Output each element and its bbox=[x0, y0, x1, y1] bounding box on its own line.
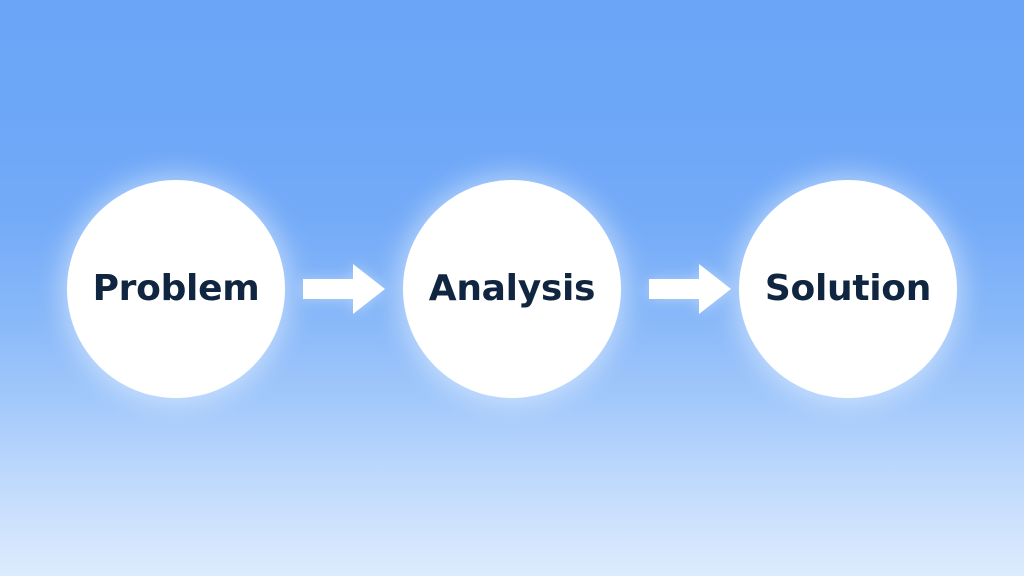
flow-node-analysis[interactable]: Analysis bbox=[403, 180, 621, 398]
flow-node-label: Problem bbox=[93, 271, 260, 307]
flow-node-problem[interactable]: Problem bbox=[67, 180, 285, 398]
diagram-canvas: Problem Analysis Solution bbox=[0, 0, 1024, 576]
arrow-right-icon bbox=[649, 262, 731, 316]
flow-node-solution[interactable]: Solution bbox=[739, 180, 957, 398]
flow-node-label: Solution bbox=[765, 271, 931, 307]
arrow-right-icon bbox=[303, 262, 385, 316]
flow-node-label: Analysis bbox=[429, 271, 595, 307]
